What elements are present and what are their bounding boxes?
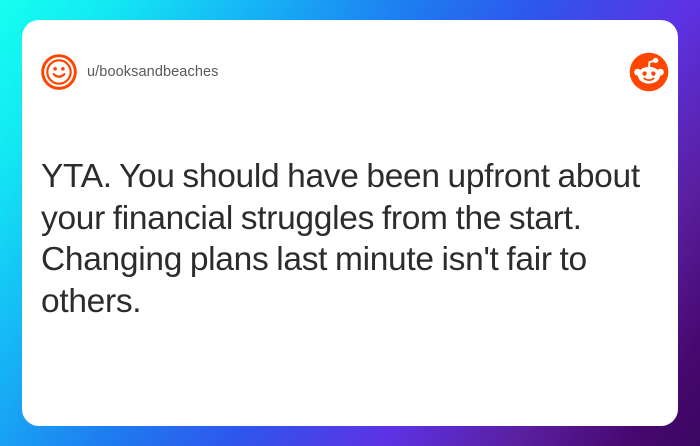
smiley-face-avatar-icon[interactable]	[40, 53, 78, 91]
screenshot-stage: u/booksandbeaches YTA. You should have b…	[0, 0, 700, 446]
post-header: u/booksandbeaches	[22, 20, 678, 106]
post-body-text: YTA. You should have been upfront about …	[41, 156, 659, 322]
reddit-post-card: u/booksandbeaches YTA. You should have b…	[22, 20, 678, 426]
reddit-snoo-logo-icon[interactable]	[629, 52, 669, 92]
post-username[interactable]: u/booksandbeaches	[87, 62, 219, 82]
